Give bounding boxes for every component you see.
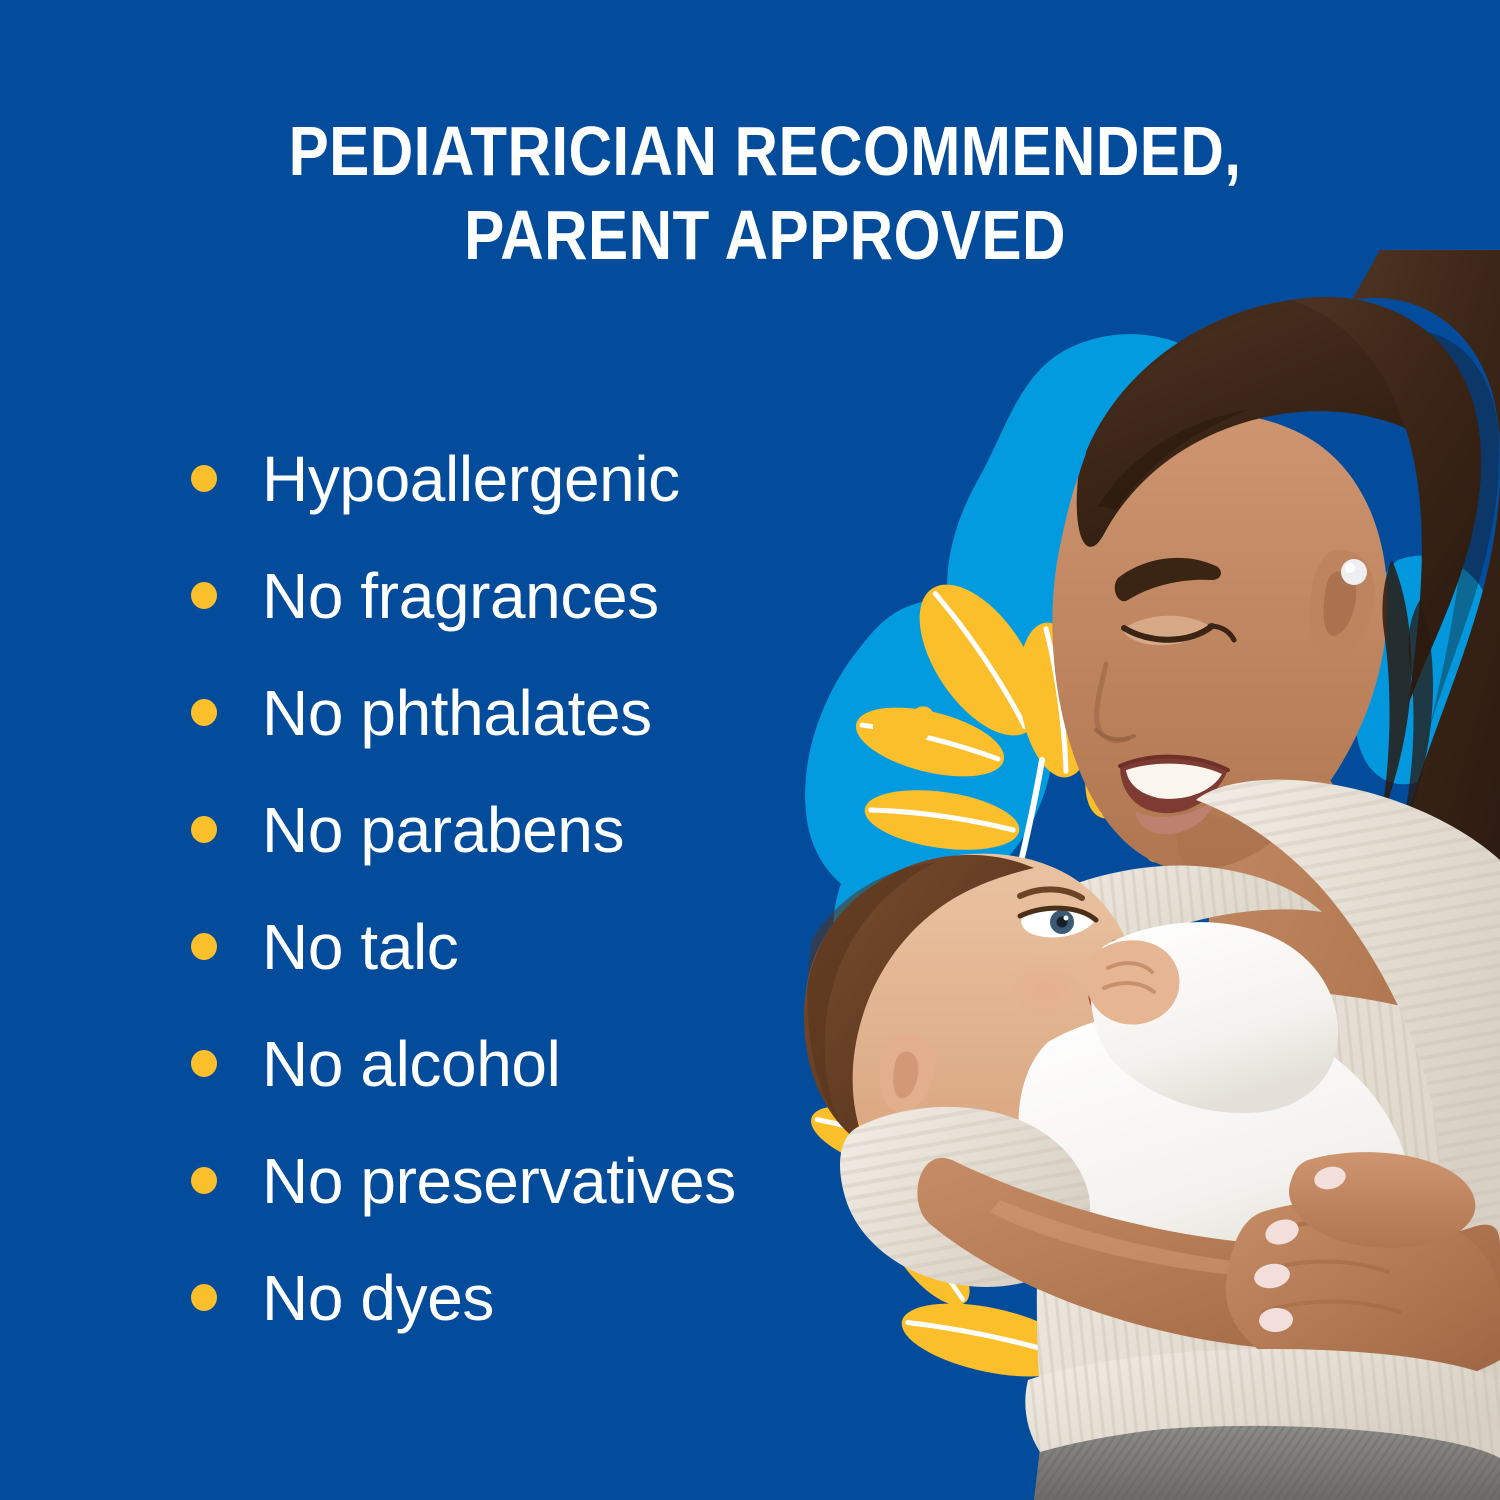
benefit-label: No preservatives: [262, 1149, 736, 1213]
cyan-blob-group: [805, 334, 1496, 1016]
bullet-dot-icon: [191, 816, 217, 843]
benefit-label: No parabens: [262, 798, 624, 862]
benefit-label: No talc: [262, 915, 458, 979]
benefit-label: No alcohol: [262, 1032, 560, 1096]
list-item: No dyes: [185, 1239, 885, 1356]
benefit-label: Hypoallergenic: [262, 447, 680, 511]
poster-canvas: PEDIATRICIAN RECOMMENDED, PARENT APPROVE…: [0, 0, 1500, 1500]
list-item: No preservatives: [185, 1122, 885, 1239]
benefit-label: No fragrances: [262, 564, 659, 628]
list-item: No phthalates: [185, 654, 885, 771]
bullet-dot-icon: [191, 699, 217, 726]
benefit-label: No dyes: [262, 1266, 494, 1330]
list-item: No alcohol: [185, 1005, 885, 1122]
bullet-dot-icon: [191, 1167, 217, 1194]
bullet-dot-icon: [191, 582, 217, 609]
benefit-label: No phthalates: [262, 681, 652, 745]
page-title: PEDIATRICIAN RECOMMENDED, PARENT APPROVE…: [107, 109, 1423, 277]
mother-and-baby-photo: [804, 250, 1500, 1500]
bullet-dot-icon: [191, 1050, 217, 1077]
bullet-dot-icon: [191, 465, 217, 492]
list-item: No parabens: [185, 771, 885, 888]
benefits-list: Hypoallergenic No fragrances No phthalat…: [185, 420, 885, 1356]
list-item: Hypoallergenic: [185, 420, 885, 537]
list-item: No talc: [185, 888, 885, 1005]
bullet-dot-icon: [191, 1284, 217, 1311]
headline-line-2: PARENT APPROVED: [107, 193, 1423, 277]
bullet-dot-icon: [191, 933, 217, 960]
headline-line-1: PEDIATRICIAN RECOMMENDED,: [107, 109, 1423, 193]
list-item: No fragrances: [185, 537, 885, 654]
